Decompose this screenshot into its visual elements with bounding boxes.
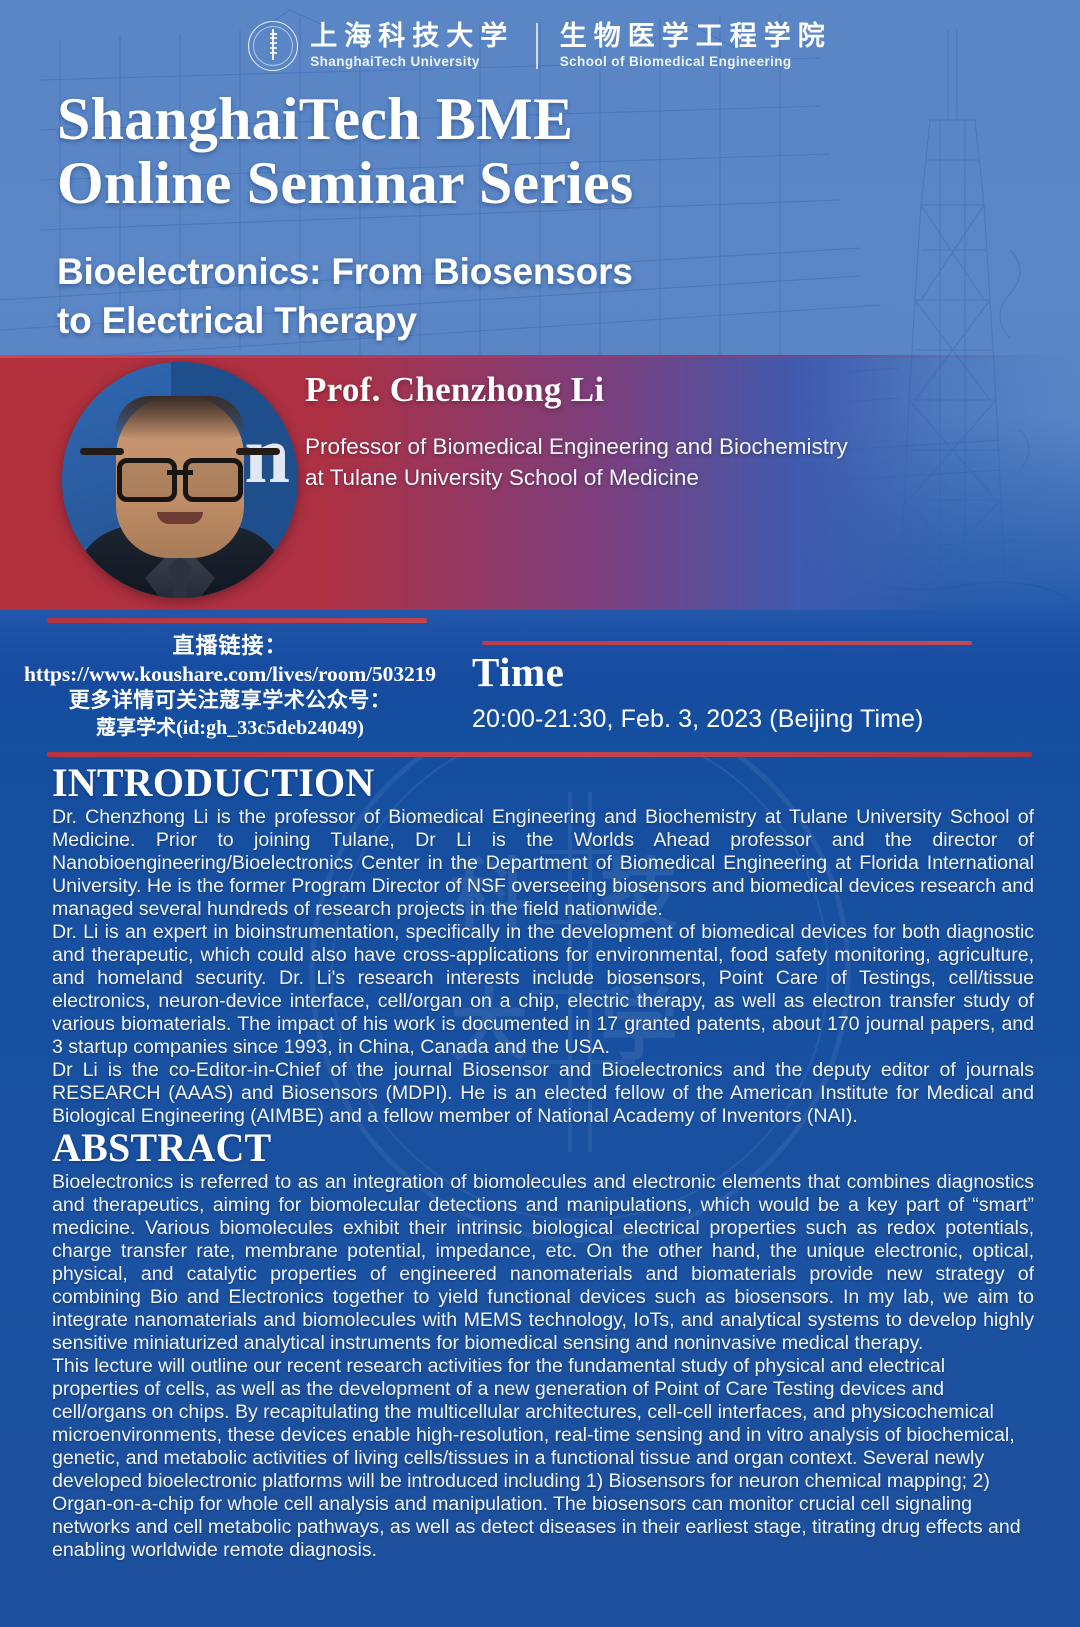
abstract-paragraph-1: Bioelectronics is referred to as an inte…	[52, 1171, 1034, 1355]
school-logo-text: 生物医学工程学院 School of Biomedical Engineerin…	[560, 22, 832, 70]
photo-lens-right	[183, 458, 243, 502]
photo-hair	[116, 396, 244, 440]
speaker-banner-top-rule	[0, 355, 1080, 358]
photo-eyebrow-left	[80, 448, 124, 455]
poster-title: ShanghaiTech BME Online Seminar Series	[57, 88, 633, 215]
school-name-cn: 生物医学工程学院	[560, 22, 832, 52]
info-strip: 直播链接： https://www.koushare.com/lives/roo…	[0, 600, 1080, 752]
poster-title-line2: Online Seminar Series	[57, 152, 633, 216]
university-logo-text: 上海科技大学 ShanghaiTech University	[310, 22, 514, 70]
speaker-affiliation-line1: Professor of Biomedical Engineering and …	[305, 432, 848, 463]
poster-subtitle-line2: to Electrical Therapy	[57, 296, 633, 345]
university-name-cn: 上海科技大学	[310, 22, 514, 52]
seminar-poster: 上海科技大学 ShanghaiTech University 生物医学工程学院 …	[0, 0, 1080, 1627]
logo-divider	[536, 23, 538, 69]
speaker-affiliation: Professor of Biomedical Engineering and …	[305, 432, 848, 493]
live-link-url[interactable]: https://www.koushare.com/lives/room/5032…	[0, 661, 460, 688]
photo-mouth	[157, 512, 203, 524]
time-divider-rule	[482, 641, 972, 645]
introduction-paragraph-2: Dr. Li is an expert in bioinstrumentatio…	[52, 921, 1034, 1059]
introduction-paragraph-1: Dr. Chenzhong Li is the professor of Bio…	[52, 806, 1034, 921]
poster-title-line1: ShanghaiTech BME	[57, 88, 633, 152]
live-link-label: 直播链接：	[0, 632, 460, 661]
photo-eyebrow-right	[236, 448, 280, 455]
wechat-account: 蔻享学术(id:gh_33c5deb24049)	[0, 715, 460, 741]
institution-logo-bar: 上海科技大学 ShanghaiTech University 生物医学工程学院 …	[0, 18, 1080, 74]
abstract-paragraph-2: This lecture will outline our recent res…	[52, 1355, 1034, 1562]
photo-glasses	[117, 458, 243, 492]
abstract-block: ABSTRACT Bioelectronics is referred to a…	[52, 1127, 1034, 1562]
photo-lens-left	[117, 458, 177, 502]
school-name-en: School of Biomedical Engineering	[560, 54, 832, 70]
abstract-heading: ABSTRACT	[52, 1127, 1034, 1169]
links-divider-rule	[47, 618, 427, 623]
introduction-paragraph-3: Dr Li is the co-Editor-in-Chief of the j…	[52, 1059, 1034, 1128]
wechat-label: 更多详情可关注蔻享学术公众号：	[0, 687, 460, 714]
speaker-photo: n	[62, 362, 298, 598]
university-name-en: ShanghaiTech University	[310, 54, 514, 70]
body-section: 科 技 大 学 INTRODUCTION Dr. Chenzhong Li is…	[0, 752, 1080, 1627]
body-top-rule	[47, 752, 1032, 757]
speaker-affiliation-line2: at Tulane University School of Medicine	[305, 463, 848, 494]
speaker-name: Prof. Chenzhong Li	[305, 370, 604, 410]
time-value: 20:00-21:30, Feb. 3, 2023 (Beijing Time)	[472, 705, 924, 734]
introduction-heading: INTRODUCTION	[52, 762, 1034, 804]
introduction-block: INTRODUCTION Dr. Chenzhong Li is the pro…	[52, 762, 1034, 1128]
poster-subtitle-line1: Bioelectronics: From Biosensors	[57, 247, 633, 296]
live-link-block: 直播链接： https://www.koushare.com/lives/roo…	[0, 632, 460, 741]
photo-backdrop-letter: n	[244, 414, 290, 496]
shanghaitech-seal-icon	[248, 21, 298, 71]
seal-tower-glyph	[270, 33, 277, 59]
poster-subtitle: Bioelectronics: From Biosensors to Elect…	[57, 247, 633, 345]
time-heading: Time	[472, 652, 564, 693]
